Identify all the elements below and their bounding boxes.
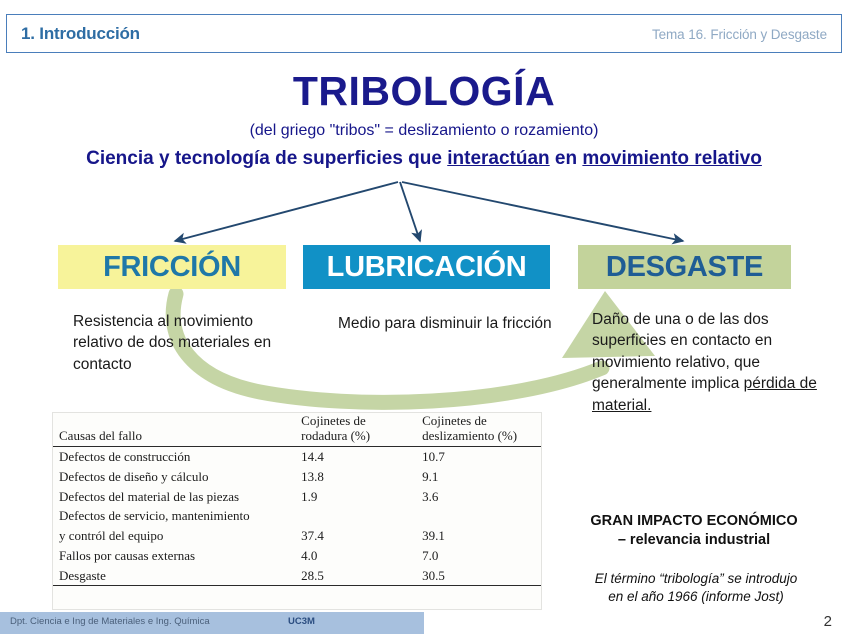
cell-cause: Defectos de construcción <box>53 446 301 466</box>
description-friccion: Resistencia al movimiento relativo de do… <box>73 311 288 375</box>
column-header-deslizamiento: Cojinetes de deslizamiento (%) <box>422 413 541 446</box>
description-lubricacion: Medio para disminuir la fricción <box>338 313 553 334</box>
topic-label: Tema 16. Fricción y Desgaste <box>652 27 827 42</box>
impact-heading-line1: GRAN IMPACTO ECONÓMICO <box>590 513 797 529</box>
section-title: 1. Introducción <box>21 24 140 44</box>
category-box-lubricacion[interactable]: LUBRICACIÓN <box>303 245 550 289</box>
column-header-rodadura: Cojinetes de rodadura (%) <box>301 413 422 446</box>
arrow-to-friccion <box>175 182 398 241</box>
cell-rodadura: 13.8 <box>301 467 422 487</box>
column-header-rodadura-line1: Cojinetes de <box>301 413 366 428</box>
table-row: Fallos por causas externas4.07.0 <box>53 546 541 566</box>
column-header-deslizamiento-line1: Cojinetes de <box>422 413 487 428</box>
table-row: Defectos de diseño y cálculo13.89.1 <box>53 467 541 487</box>
cell-deslizamiento: 3.6 <box>422 486 541 506</box>
column-header-deslizamiento-line2: deslizamiento (%) <box>422 428 517 443</box>
column-header-rodadura-line2: rodadura (%) <box>301 428 370 443</box>
category-box-friccion[interactable]: FRICCIÓN <box>58 245 286 289</box>
table: Causas del fallo Cojinetes de rodadura (… <box>53 413 541 586</box>
category-label-lubricacion: LUBRICACIÓN <box>327 251 527 284</box>
cell-rodadura <box>301 506 422 526</box>
cell-rodadura: 28.5 <box>301 566 422 586</box>
table-row: Defectos de construcción14.410.7 <box>53 446 541 466</box>
impact-note-line1: El término “tribología” se introdujo <box>595 571 798 586</box>
etymology-note: (del griego "tribos" = deslizamiento o r… <box>0 122 848 140</box>
page-title: TRIBOLOGÍA <box>0 68 848 115</box>
definition-line: Ciencia y tecnología de superficies que … <box>0 148 848 170</box>
definition-middle: en <box>550 148 583 169</box>
definition-prefix: Ciencia y tecnología de superficies que <box>86 148 447 169</box>
cell-rodadura: 14.4 <box>301 446 422 466</box>
cell-rodadura: 4.0 <box>301 546 422 566</box>
economic-impact-note: El término “tribología” se introdujo en … <box>552 570 840 606</box>
definition-keyword-interactuan: interactúan <box>447 148 549 169</box>
cell-rodadura: 1.9 <box>301 486 422 506</box>
table-header-row: Causas del fallo Cojinetes de rodadura (… <box>53 413 541 446</box>
category-box-desgaste[interactable]: DESGASTE <box>578 245 791 289</box>
table-row: Desgaste28.530.5 <box>53 566 541 586</box>
cell-cause: Defectos de diseño y cálculo <box>53 467 301 487</box>
cell-deslizamiento: 30.5 <box>422 566 541 586</box>
footer-department: Dpt. Ciencia e Ing de Materiales e Ing. … <box>10 616 210 627</box>
cell-cause: y contról del equipo <box>53 526 301 546</box>
cell-cause: Desgaste <box>53 566 301 586</box>
cell-deslizamiento: 7.0 <box>422 546 541 566</box>
failure-causes-table: Causas del fallo Cojinetes de rodadura (… <box>52 412 542 610</box>
fan-arrows-group <box>0 175 848 255</box>
description-desgaste: Daño de una o de las dos superficies en … <box>592 309 832 416</box>
category-label-desgaste: DESGASTE <box>606 251 763 284</box>
table-row: y contról del equipo37.439.1 <box>53 526 541 546</box>
table-row: Defectos de servicio, mantenimiento <box>53 506 541 526</box>
column-header-cause: Causas del fallo <box>53 413 301 446</box>
category-label-friccion: FRICCIÓN <box>103 251 241 284</box>
table-header: Causas del fallo Cojinetes de rodadura (… <box>53 413 541 446</box>
table-row: Defectos del material de las piezas1.93.… <box>53 486 541 506</box>
cell-cause: Defectos de servicio, mantenimiento <box>53 506 301 526</box>
cell-deslizamiento: 39.1 <box>422 526 541 546</box>
cell-deslizamiento: 9.1 <box>422 467 541 487</box>
cell-cause: Defectos del material de las piezas <box>53 486 301 506</box>
cell-deslizamiento: 10.7 <box>422 446 541 466</box>
cell-deslizamiento <box>422 506 541 526</box>
footer-university: UC3M <box>288 616 315 627</box>
cell-rodadura: 37.4 <box>301 526 422 546</box>
definition-keyword-movimiento-relativo: movimiento relativo <box>582 148 762 169</box>
cell-cause: Fallos por causas externas <box>53 546 301 566</box>
impact-heading-line2: – relevancia industrial <box>618 532 770 548</box>
economic-impact-heading: GRAN IMPACTO ECONÓMICO – relevancia indu… <box>548 512 840 550</box>
arrow-to-lubricacion <box>400 182 420 241</box>
arrow-to-desgaste <box>402 182 683 241</box>
footer-bar: Dpt. Ciencia e Ing de Materiales e Ing. … <box>0 612 424 634</box>
slide-header-bar: 1. Introducción Tema 16. Fricción y Desg… <box>6 14 842 53</box>
page-number: 2 <box>824 613 832 630</box>
impact-note-line2: en el año 1966 (informe Jost) <box>608 589 784 604</box>
table-body: Defectos de construcción14.410.7Defectos… <box>53 446 541 585</box>
